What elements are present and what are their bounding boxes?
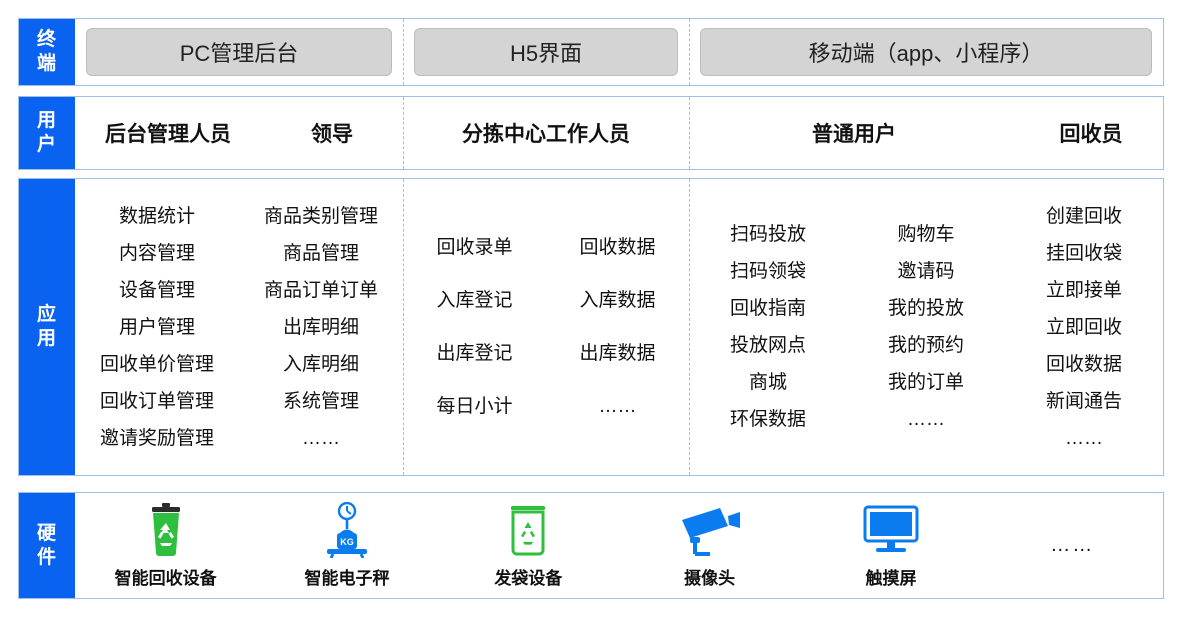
user-cell-sorting-staff: 分拣中心工作人员 <box>403 118 689 148</box>
application-item[interactable]: 我的订单 <box>888 364 964 401</box>
application-item[interactable]: 回收单价管理 <box>100 346 214 383</box>
user-row-label-text: 用户 <box>35 109 59 157</box>
hardware-item-label: 智能电子秤 <box>304 564 389 589</box>
application-item[interactable]: 用户管理 <box>119 309 195 346</box>
application-item[interactable]: 入库数据 <box>579 274 655 327</box>
application-item[interactable]: 商品管理 <box>283 235 359 272</box>
application-item[interactable]: 出库登记 <box>436 327 512 380</box>
application-item[interactable]: 立即接单 <box>1046 272 1122 309</box>
application-item[interactable]: 商城 <box>749 364 787 401</box>
terminal-row: 终端 PC管理后台 H5界面 移动端（app、小程序） <box>18 18 1164 86</box>
application-item[interactable]: 立即回收 <box>1046 309 1122 346</box>
bag-dispenser-icon <box>501 502 555 558</box>
application-row: 应用 数据统计 内容管理 设备管理 用户管理 回收单价管理 回收订单管理 邀请奖… <box>18 178 1164 476</box>
application-row-body: 数据统计 内容管理 设备管理 用户管理 回收单价管理 回收订单管理 邀请奖励管理… <box>75 179 1163 475</box>
application-item[interactable]: 出库明细 <box>283 309 359 346</box>
terminal-row-label-text: 终端 <box>35 28 59 76</box>
smart-scale-icon: KG <box>317 502 377 558</box>
touchscreen-icon <box>860 502 922 558</box>
application-item[interactable]: 回收指南 <box>730 290 806 327</box>
user-row: 用户 后台管理人员 领导 分拣中心工作人员 普通用户 回收员 <box>18 96 1164 170</box>
user-row-body: 后台管理人员 领导 分拣中心工作人员 普通用户 回收员 <box>75 97 1163 169</box>
hardware-row: 硬件 智能回收设备 <box>18 492 1164 599</box>
hardware-ellipsis: …… <box>1050 534 1094 557</box>
application-item[interactable]: 每日小计 <box>436 380 512 433</box>
application-item[interactable]: 创建回收 <box>1046 198 1122 235</box>
application-item[interactable]: 新闻通告 <box>1046 383 1122 420</box>
hardware-item-label: 智能回收设备 <box>115 564 217 589</box>
application-column-pc-2: 商品类别管理 商品管理 商品订单订单 出库明细 入库明细 系统管理 …… <box>239 179 403 475</box>
application-item[interactable]: 商品类别管理 <box>264 198 378 235</box>
terminal-box-pc: PC管理后台 <box>86 28 392 76</box>
application-item[interactable]: 我的投放 <box>888 290 964 327</box>
application-item: …… <box>907 401 945 438</box>
application-item[interactable]: 挂回收袋 <box>1046 235 1122 272</box>
terminal-row-label: 终端 <box>19 19 75 85</box>
user-separator-2 <box>689 97 690 169</box>
terminal-box-h5: H5界面 <box>414 28 678 76</box>
user-row-label: 用户 <box>19 97 75 169</box>
hardware-item-more: …… <box>982 493 1163 598</box>
application-item[interactable]: 出库数据 <box>579 327 655 380</box>
hardware-item-label: 摄像头 <box>684 564 735 589</box>
application-group-h5: 回收录单 入库登记 出库登记 每日小计 回收数据 入库数据 出库数据 …… <box>403 179 689 475</box>
application-item[interactable]: 回收订单管理 <box>100 383 214 420</box>
terminal-cell-h5[interactable]: H5界面 <box>403 28 689 76</box>
hardware-item-label: 发袋设备 <box>494 564 562 589</box>
application-item[interactable]: 回收数据 <box>1046 346 1122 383</box>
user-cell-leader: 领导 <box>261 118 403 148</box>
hardware-item-recycle-bin[interactable]: 智能回收设备 <box>75 493 256 598</box>
architecture-diagram: 终端 PC管理后台 H5界面 移动端（app、小程序） 用户 后台管理人员 领导 <box>0 0 1182 617</box>
hardware-item-touchscreen[interactable]: 触摸屏 <box>800 493 981 598</box>
application-item: …… <box>1065 420 1103 457</box>
application-column-mobile-1: 扫码投放 扫码领袋 回收指南 投放网点 商城 环保数据 <box>689 179 847 475</box>
camera-icon <box>676 502 744 558</box>
user-cell-collector: 回收员 <box>1019 118 1163 148</box>
application-item[interactable]: 邀请码 <box>897 253 954 290</box>
hardware-item-camera[interactable]: 摄像头 <box>619 493 800 598</box>
application-item[interactable]: 入库登记 <box>436 274 512 327</box>
application-column-pc-1: 数据统计 内容管理 设备管理 用户管理 回收单价管理 回收订单管理 邀请奖励管理 <box>75 179 239 475</box>
application-item[interactable]: 邀请奖励管理 <box>100 420 214 457</box>
terminal-separator-2 <box>689 19 690 85</box>
user-cell-admin: 后台管理人员 <box>75 118 261 148</box>
application-item[interactable]: 商品订单订单 <box>264 272 378 309</box>
terminal-cell-mobile[interactable]: 移动端（app、小程序） <box>689 28 1163 76</box>
application-item[interactable]: 我的预约 <box>888 327 964 364</box>
application-item[interactable]: 内容管理 <box>119 235 195 272</box>
application-row-label: 应用 <box>19 179 75 475</box>
hardware-item-label: 触摸屏 <box>865 564 916 589</box>
smart-recycle-bin-icon <box>136 502 196 558</box>
application-item[interactable]: 入库明细 <box>283 346 359 383</box>
application-item[interactable]: 环保数据 <box>730 401 806 438</box>
application-item[interactable]: 回收录单 <box>436 221 512 274</box>
svg-text:KG: KG <box>340 537 354 547</box>
application-column-h5-1: 回收录单 入库登记 出库登记 每日小计 <box>403 179 546 475</box>
terminal-separator-1 <box>403 19 404 85</box>
hardware-row-label-text: 硬件 <box>35 522 59 570</box>
hardware-item-bag-dispenser[interactable]: 发袋设备 <box>438 493 619 598</box>
hardware-row-label: 硬件 <box>19 493 75 598</box>
application-column-mobile-3: 创建回收 挂回收袋 立即接单 立即回收 回收数据 新闻通告 …… <box>1005 179 1163 475</box>
application-item[interactable]: 系统管理 <box>283 383 359 420</box>
terminal-cell-pc[interactable]: PC管理后台 <box>75 28 403 76</box>
terminal-box-mobile: 移动端（app、小程序） <box>700 28 1152 76</box>
application-column-mobile-2: 购物车 邀请码 我的投放 我的预约 我的订单 …… <box>847 179 1005 475</box>
application-item[interactable]: 扫码投放 <box>730 216 806 253</box>
application-item[interactable]: 数据统计 <box>119 198 195 235</box>
application-group-pc: 数据统计 内容管理 设备管理 用户管理 回收单价管理 回收订单管理 邀请奖励管理… <box>75 179 403 475</box>
application-item[interactable]: 设备管理 <box>119 272 195 309</box>
application-item: …… <box>599 380 637 433</box>
application-item[interactable]: 购物车 <box>897 216 954 253</box>
application-item[interactable]: 回收数据 <box>579 221 655 274</box>
hardware-item-smart-scale[interactable]: KG 智能电子秤 <box>256 493 437 598</box>
application-item[interactable]: 投放网点 <box>730 327 806 364</box>
terminal-row-body: PC管理后台 H5界面 移动端（app、小程序） <box>75 19 1163 85</box>
user-separator-1 <box>403 97 404 169</box>
application-item: …… <box>302 420 340 457</box>
application-column-h5-2: 回收数据 入库数据 出库数据 …… <box>546 179 689 475</box>
hardware-row-body: 智能回收设备 KG <box>75 493 1163 598</box>
user-cell-normal-user: 普通用户 <box>689 118 1019 148</box>
application-group-mobile: 扫码投放 扫码领袋 回收指南 投放网点 商城 环保数据 购物车 邀请码 我的投放… <box>689 179 1163 475</box>
application-item[interactable]: 扫码领袋 <box>730 253 806 290</box>
application-row-label-text: 应用 <box>35 303 59 351</box>
